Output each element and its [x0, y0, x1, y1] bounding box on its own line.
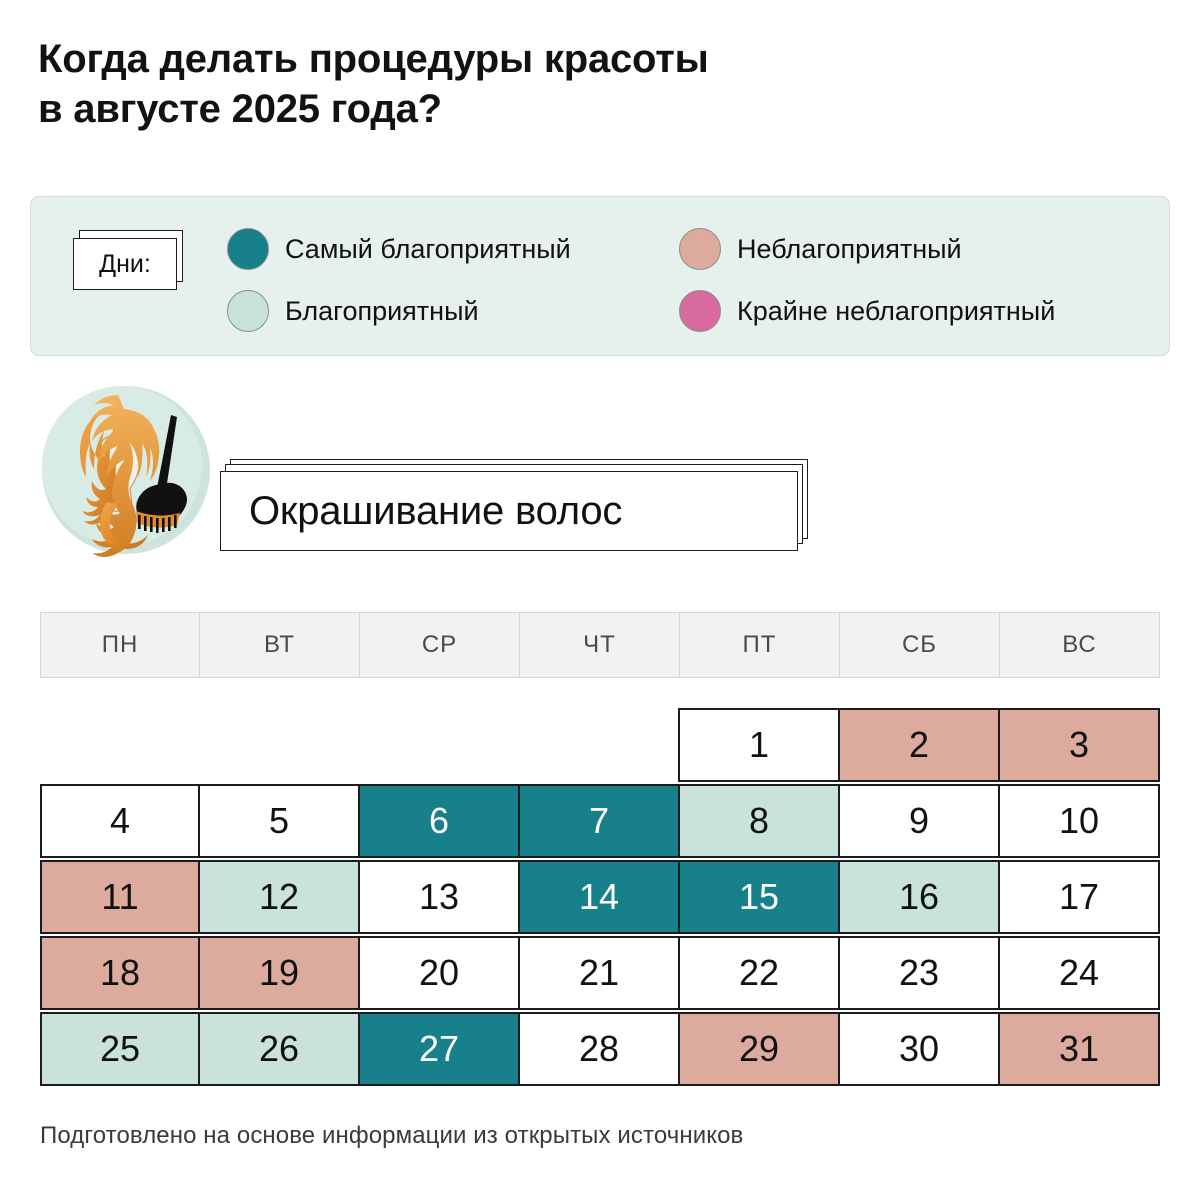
weekday-header-mon: ПН — [40, 612, 200, 678]
calendar-day-cell[interactable]: 30 — [838, 1012, 1000, 1086]
calendar-day-cell[interactable]: 7 — [518, 784, 680, 858]
calendar-day-cell[interactable]: 27 — [358, 1012, 520, 1086]
procedure-title-card: Окрашивание волос — [220, 459, 810, 551]
weekday-header-tue: ВТ — [199, 612, 360, 678]
legend-items: Самый благоприятный Неблагоприятный Благ… — [227, 221, 1151, 339]
calendar-day-cell[interactable]: 29 — [678, 1012, 840, 1086]
calendar-day-cell[interactable]: 16 — [838, 860, 1000, 934]
calendar-day-cell[interactable]: 25 — [40, 1012, 200, 1086]
calendar-day-cell[interactable]: 5 — [198, 784, 360, 858]
circle-swatch-icon — [227, 290, 269, 332]
legend-badge: Дни: — [73, 230, 189, 292]
calendar-weekday-header-row: ПН ВТ СР ЧТ ПТ СБ ВС — [40, 612, 1160, 678]
calendar-day-cell[interactable]: 12 — [198, 860, 360, 934]
calendar-day-cell[interactable]: 13 — [358, 860, 520, 934]
calendar-week-row: 11121314151617 — [40, 860, 1160, 934]
circle-swatch-icon — [227, 228, 269, 270]
procedure-title: Окрашивание волос — [220, 471, 798, 551]
calendar-week-row: 25262728293031 — [40, 1012, 1160, 1086]
calendar-week-row: 18192021222324 — [40, 936, 1160, 1010]
legend-label-good: Благоприятный — [285, 298, 479, 325]
calendar-day-cell[interactable]: 9 — [838, 784, 1000, 858]
calendar-day-cell[interactable]: 23 — [838, 936, 1000, 1010]
footer-note: Подготовлено на основе информации из отк… — [40, 1122, 743, 1150]
legend-label-best: Самый благоприятный — [285, 236, 571, 263]
calendar-day-cell[interactable]: 11 — [40, 860, 200, 934]
calendar-body: 1234567891011121314151617181920212223242… — [40, 708, 1160, 1086]
calendar-day-cell[interactable]: 8 — [678, 784, 840, 858]
legend-panel: Дни: Самый благоприятный Неблагоприятный… — [30, 196, 1170, 356]
calendar-week-row: 123 — [40, 708, 1160, 782]
circle-swatch-icon — [679, 290, 721, 332]
page-title: Когда делать процедуры красоты в августе… — [38, 34, 1038, 135]
calendar-day-cell[interactable]: 2 — [838, 708, 1000, 782]
calendar-week-row: 45678910 — [40, 784, 1160, 858]
calendar-day-cell[interactable]: 20 — [358, 936, 520, 1010]
calendar-day-cell[interactable]: 10 — [998, 784, 1160, 858]
calendar-day-cell[interactable]: 6 — [358, 784, 520, 858]
calendar-cell-empty — [518, 708, 680, 782]
legend-badge-label: Дни: — [73, 238, 177, 290]
weekday-header-sun: ВС — [999, 612, 1160, 678]
calendar-day-cell[interactable]: 21 — [518, 936, 680, 1010]
weekday-header-wed: СР — [359, 612, 520, 678]
calendar-day-cell[interactable]: 24 — [998, 936, 1160, 1010]
calendar-day-cell[interactable]: 26 — [198, 1012, 360, 1086]
calendar-day-cell[interactable]: 19 — [198, 936, 360, 1010]
legend-item-bad: Неблагоприятный — [679, 221, 1151, 277]
calendar-day-cell[interactable]: 15 — [678, 860, 840, 934]
legend-item-worst: Крайне неблагоприятный — [679, 283, 1151, 339]
weekday-header-fri: ПТ — [679, 612, 840, 678]
calendar-day-cell[interactable]: 14 — [518, 860, 680, 934]
legend-label-bad: Неблагоприятный — [737, 236, 962, 263]
calendar-cell-empty — [358, 708, 520, 782]
calendar: ПН ВТ СР ЧТ ПТ СБ ВС 1234567891011121314… — [40, 612, 1160, 1088]
hair-coloring-icon — [38, 385, 218, 560]
legend-label-worst: Крайне неблагоприятный — [737, 298, 1055, 325]
legend-item-best: Самый благоприятный — [227, 221, 679, 277]
legend-item-good: Благоприятный — [227, 283, 679, 339]
calendar-day-cell[interactable]: 4 — [40, 784, 200, 858]
calendar-day-cell[interactable]: 18 — [40, 936, 200, 1010]
calendar-day-cell[interactable]: 28 — [518, 1012, 680, 1086]
weekday-header-sat: СБ — [839, 612, 1000, 678]
calendar-day-cell[interactable]: 3 — [998, 708, 1160, 782]
calendar-day-cell[interactable]: 22 — [678, 936, 840, 1010]
calendar-day-cell[interactable]: 31 — [998, 1012, 1160, 1086]
calendar-cell-empty — [40, 708, 200, 782]
weekday-header-thu: ЧТ — [519, 612, 680, 678]
calendar-day-cell[interactable]: 1 — [678, 708, 840, 782]
calendar-day-cell[interactable]: 17 — [998, 860, 1160, 934]
calendar-cell-empty — [198, 708, 360, 782]
procedure-header: Окрашивание волос — [38, 385, 1158, 560]
circle-swatch-icon — [679, 228, 721, 270]
